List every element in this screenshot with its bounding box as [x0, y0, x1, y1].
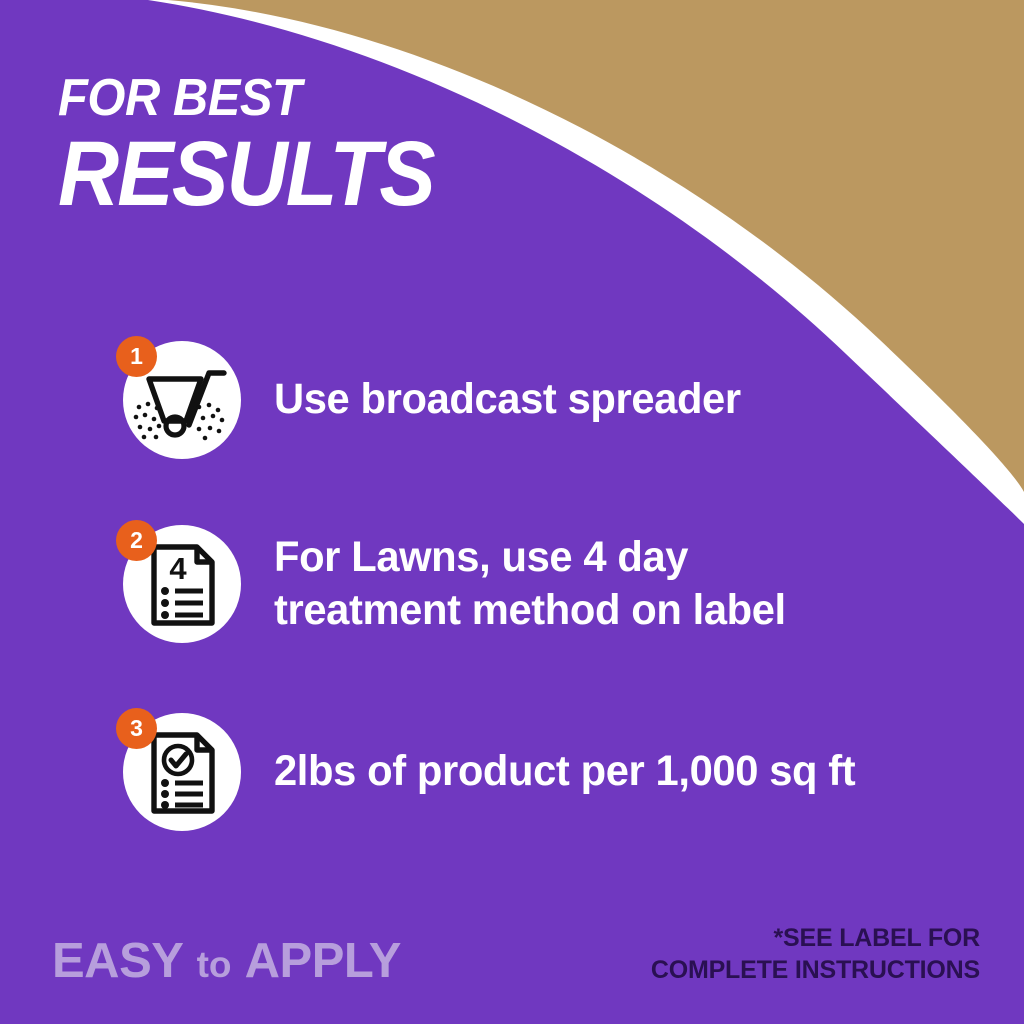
step-item-2: 4 2 For Lawns, use 4 day [0, 518, 1024, 650]
step-2-medallion: 4 2 [116, 518, 248, 650]
headline: FOR BEST RESULTS [58, 72, 467, 222]
step-1-medallion: 1 [116, 334, 248, 466]
headline-line-1: FOR BEST [58, 72, 442, 124]
easy-to-apply-tagline: EASY to APPLY [52, 937, 401, 986]
poster: FOR BEST RESULTS [0, 0, 1024, 1024]
step-2-line-1: For Lawns, use 4 day [274, 531, 786, 584]
document-numeral: 4 [169, 551, 187, 586]
step-1-line-1: Use broadcast spreader [274, 373, 741, 426]
step-1-text: Use broadcast spreader [274, 373, 741, 426]
step-3-line-1: 2lbs of product per 1,000 sq ft [274, 745, 855, 798]
step-item-3: 3 2lbs of product per 1,000 sq ft [0, 706, 1024, 838]
steps-list: 1 Use broadcast spreader 4 [0, 330, 1024, 838]
disclaimer-line-1: *SEE LABEL FOR [651, 922, 980, 954]
easy-word: EASY [52, 934, 183, 988]
step-item-1: 1 Use broadcast spreader [0, 334, 1024, 466]
step-1-number-badge: 1 [116, 336, 157, 377]
apply-word: APPLY [245, 934, 401, 988]
step-2-number-badge: 2 [116, 520, 157, 561]
disclaimer-line-2: COMPLETE INSTRUCTIONS [651, 954, 980, 986]
step-3-text: 2lbs of product per 1,000 sq ft [274, 745, 855, 798]
step-2-line-2: treatment method on label [274, 584, 786, 637]
step-3-number-badge: 3 [116, 708, 157, 749]
see-label-disclaimer: *SEE LABEL FOR COMPLETE INSTRUCTIONS [651, 922, 980, 986]
headline-line-2: RESULTS [58, 128, 434, 222]
to-word: to [197, 944, 232, 985]
step-2-text: For Lawns, use 4 day treatment method on… [274, 531, 786, 638]
step-3-medallion: 3 [116, 706, 248, 838]
